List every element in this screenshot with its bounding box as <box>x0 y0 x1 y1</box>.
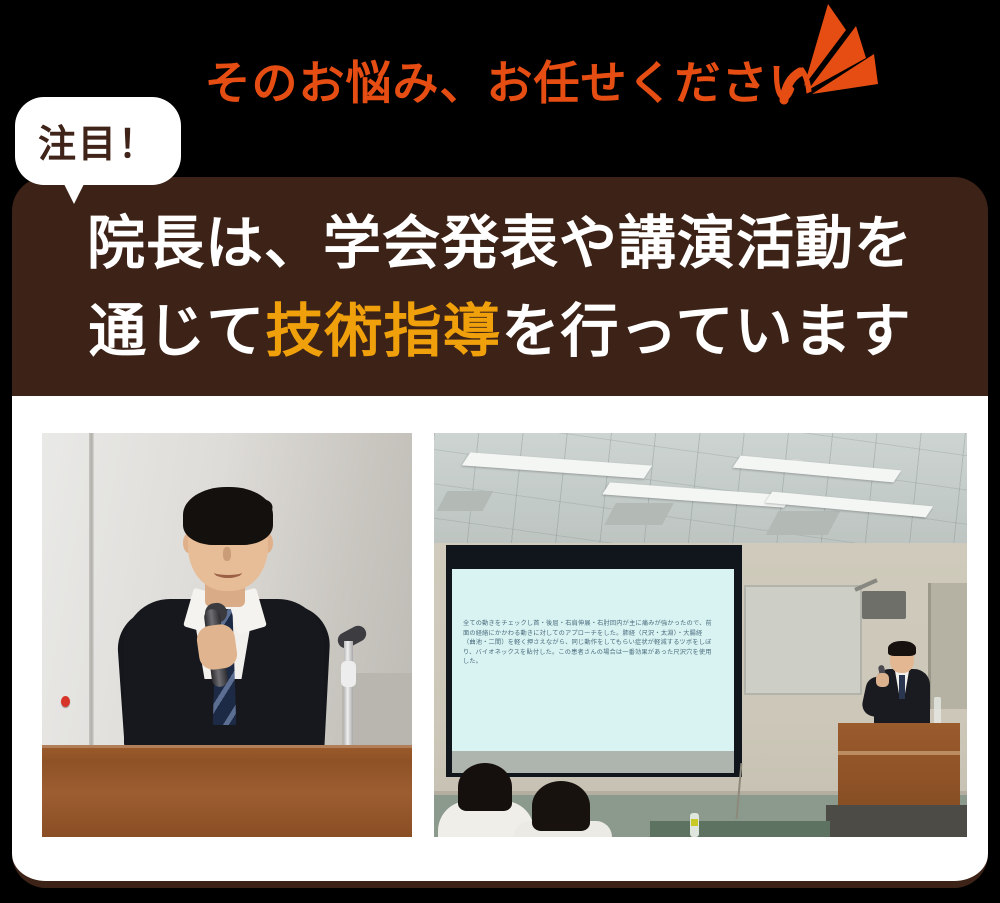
door-frame <box>928 583 967 709</box>
attention-badge: 注目！ <box>18 100 178 182</box>
catch-copy: そのお悩み、お任せください <box>200 48 820 118</box>
attention-badge-label: 注目！ <box>18 100 178 182</box>
front-desk <box>826 805 967 837</box>
headline-line-1: 院長は、学会発表や講演活動を <box>12 199 988 287</box>
poster-canvas: そのお悩み、お任せください 注目！ 院長は、学会発表や講演活動を 通じて技術指導… <box>0 0 1000 903</box>
wall-seam <box>89 433 94 745</box>
headline-banner: 院長は、学会発表や講演活動を 通じて技術指導を行っています <box>12 177 988 396</box>
photo-lecturer-podium <box>42 433 412 837</box>
lecturer-hair <box>183 487 273 545</box>
slide-text: 全ての動きをチェックし首・後屈・右肩伸展・右肘回内が主に痛みが強かったので、前面… <box>463 619 713 667</box>
audience-table <box>650 821 830 837</box>
whiteboard <box>744 585 862 695</box>
red-magnet <box>61 696 70 707</box>
lecturer-hand <box>195 623 239 672</box>
attention-badge-tail <box>60 176 88 204</box>
ceiling-vent <box>604 503 674 525</box>
headline-line-2-before: 通じて <box>88 297 265 365</box>
lecturer-nose <box>223 547 231 561</box>
lecturer-mouth <box>214 567 242 578</box>
headline-text: 院長は、学会発表や講演活動を 通じて技術指導を行っています <box>12 199 988 375</box>
wooden-podium <box>42 745 412 837</box>
presenter-tie <box>899 675 905 699</box>
headline-accent: 技術指導 <box>265 297 501 365</box>
presenter-hair <box>888 641 916 656</box>
stand-microphone-knob <box>341 661 356 687</box>
podium-bottle <box>934 697 941 725</box>
headline-line-2: 通じて技術指導を行っています <box>12 287 988 375</box>
ceiling-vent <box>766 511 841 535</box>
audience-head <box>458 763 512 811</box>
table-bottle <box>690 813 699 837</box>
presenter-hand <box>876 673 889 687</box>
audience-head <box>532 781 590 831</box>
stand-microphone-pole <box>344 641 353 747</box>
wall-speaker <box>862 591 906 619</box>
podium-edge <box>838 751 960 755</box>
headline-line-2-after: を行っています <box>501 297 911 365</box>
photo-lecture-hall: 全ての動きをチェックし首・後屈・右肩伸展・右肘回内が主に痛みが強かったので、前面… <box>434 433 967 837</box>
